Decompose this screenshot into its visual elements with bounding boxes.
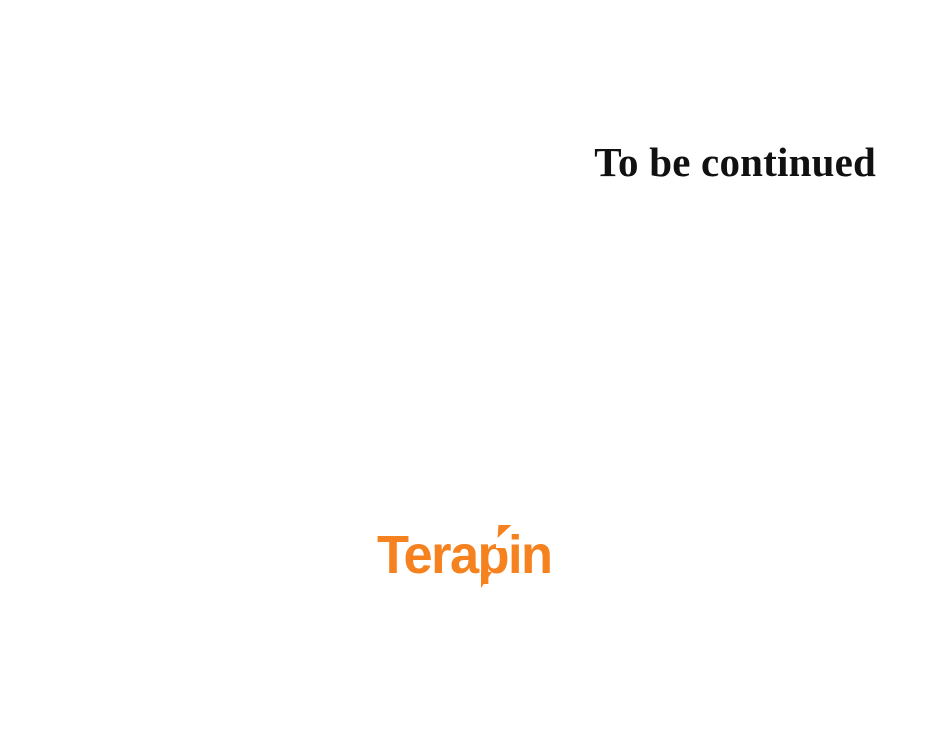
slide-canvas: To be continued Terapin <box>0 0 940 756</box>
page-title: To be continued <box>0 138 876 186</box>
terapin-logo: Terapin <box>377 528 567 594</box>
p-descender-tail-icon <box>481 572 492 588</box>
logo-wordmark: Terapin <box>377 528 561 582</box>
acute-accent-icon <box>498 525 512 538</box>
